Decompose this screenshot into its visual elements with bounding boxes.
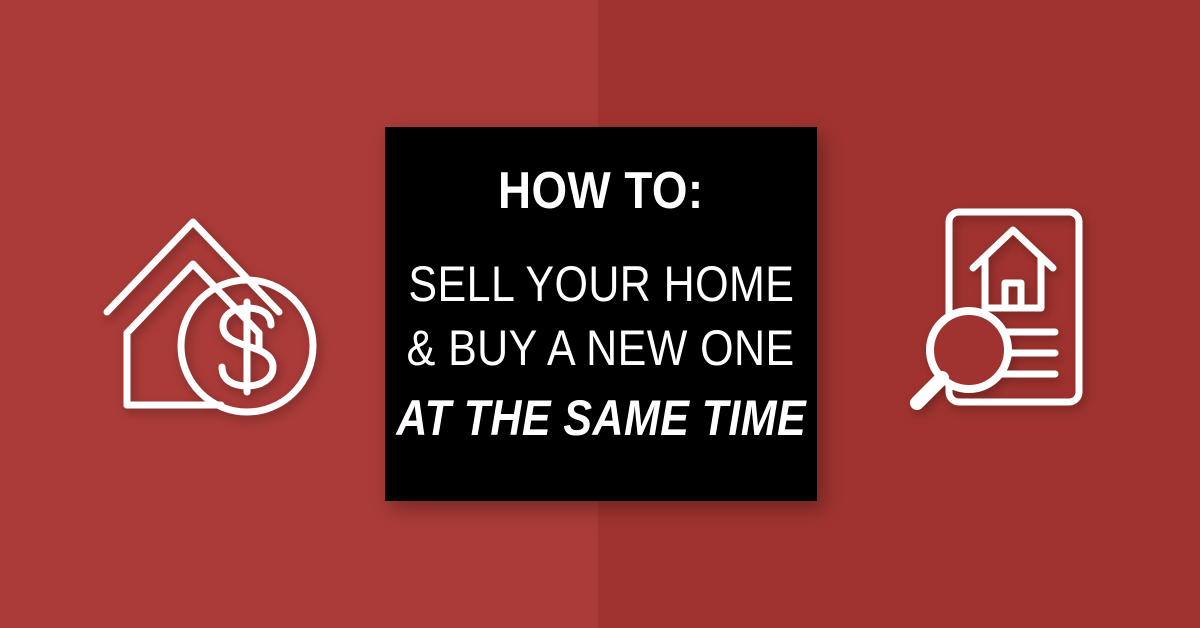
- graphic-canvas: HOW TO: SELL YOUR HOME & BUY A NEW ONE A…: [0, 0, 1200, 628]
- headline-line-2: & BUY A NEW ONE: [407, 323, 795, 373]
- property-listing-search-icon: [895, 195, 1110, 435]
- headline-line-3-emphasis: AT THE SAME TIME: [396, 393, 806, 443]
- home-with-dollar-coin-icon: [95, 198, 340, 433]
- headline-line-1: SELL YOUR HOME: [408, 259, 794, 309]
- headline-panel: HOW TO: SELL YOUR HOME & BUY A NEW ONE A…: [385, 127, 817, 501]
- headline-kicker: HOW TO:: [498, 165, 704, 217]
